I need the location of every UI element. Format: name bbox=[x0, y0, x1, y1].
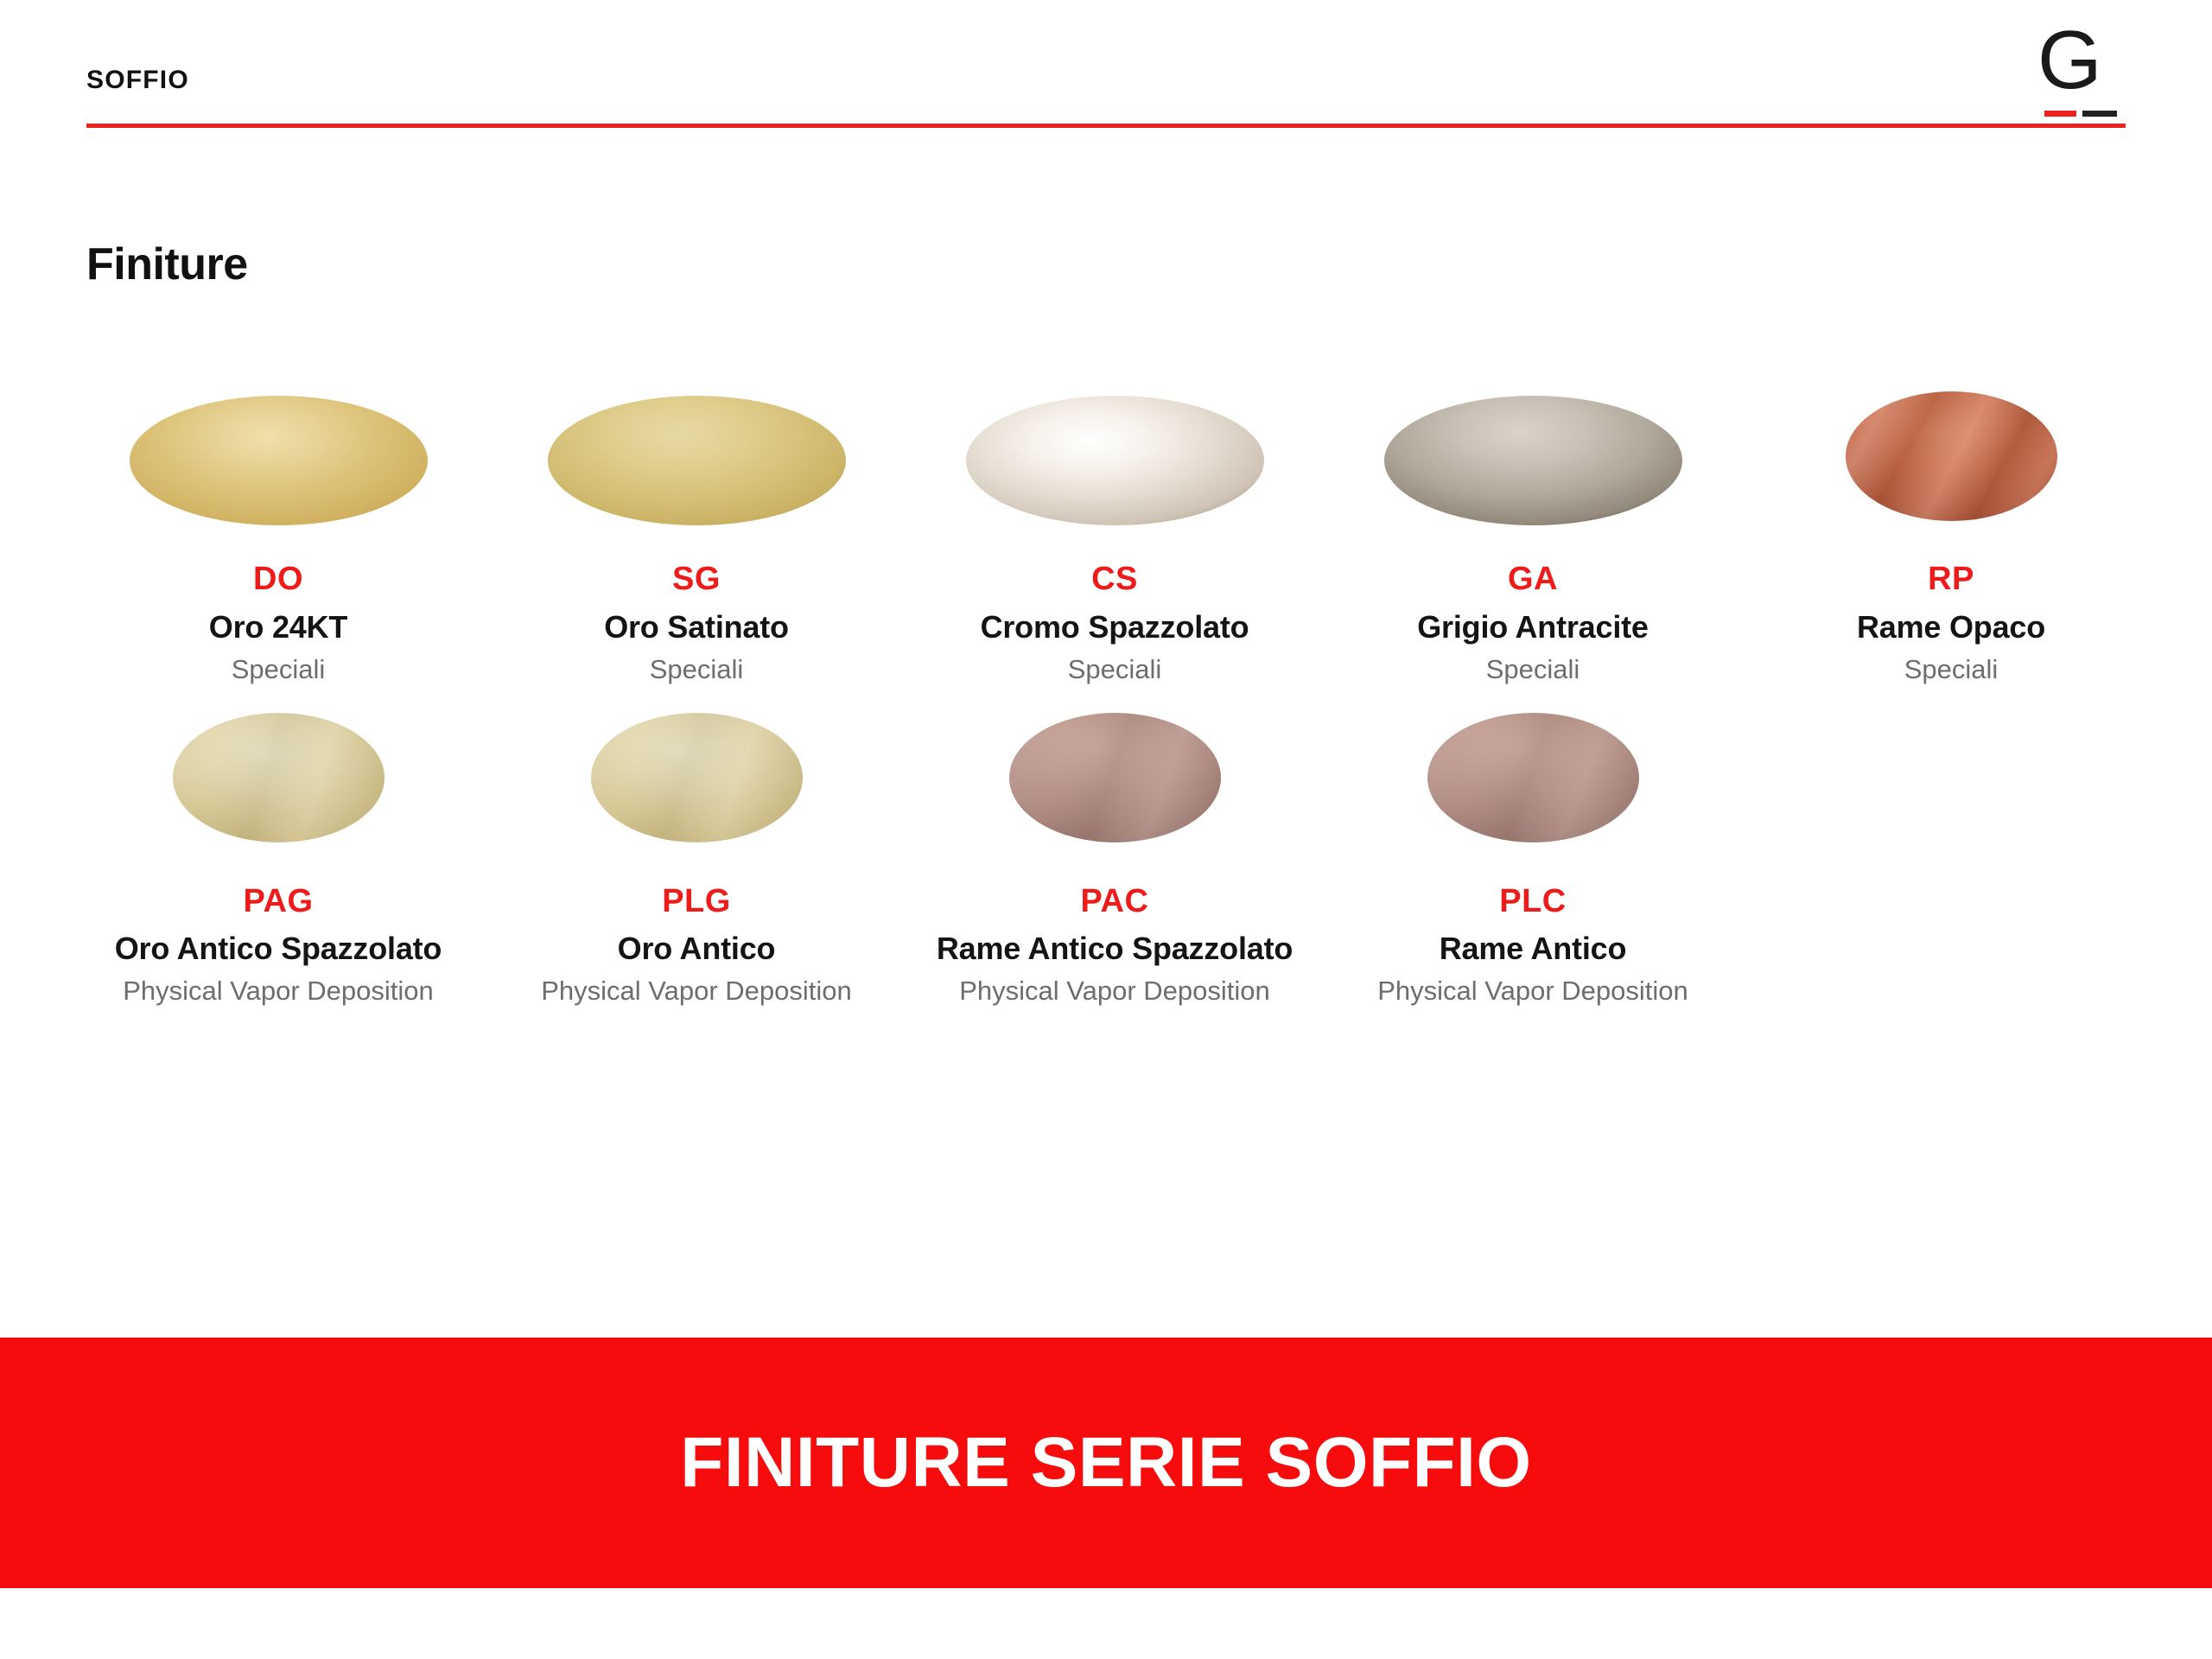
finish-card-pac[interactable]: PAC Rame Antico Spazzolato Physical Vapo… bbox=[906, 702, 1324, 1007]
finish-code: SG bbox=[511, 563, 882, 597]
finish-swatch-plg bbox=[591, 713, 803, 851]
finish-swatch-ga bbox=[1384, 396, 1682, 525]
finish-description: Physical Vapor Deposition bbox=[929, 976, 1300, 1007]
finish-code: DO bbox=[92, 563, 464, 597]
brand-logo: G bbox=[2037, 31, 2133, 118]
finish-labels: PAG Oro Antico Spazzolato Physical Vapor… bbox=[92, 885, 464, 1007]
finish-card-empty bbox=[1742, 702, 2160, 1007]
finish-swatch-cs bbox=[966, 396, 1264, 525]
finish-card-plc[interactable]: PLC Rame Antico Physical Vapor Depositio… bbox=[1324, 702, 1742, 1007]
finish-name: Oro 24KT bbox=[92, 609, 464, 645]
swatch-body bbox=[1846, 391, 2057, 521]
logo-letter-g-icon: G bbox=[2037, 19, 2102, 102]
finish-name: Cromo Spazzolato bbox=[929, 609, 1300, 645]
finish-code: GA bbox=[1347, 563, 1719, 597]
swatch-body bbox=[1384, 396, 1682, 525]
finish-description: Speciali bbox=[1765, 654, 2137, 685]
finish-name: Rame Opaco bbox=[1765, 609, 2137, 645]
finish-name: Oro Antico bbox=[511, 931, 882, 967]
swatch-body bbox=[1427, 713, 1639, 842]
finish-code: PAC bbox=[929, 885, 1300, 919]
logo-underline-gap bbox=[2076, 111, 2082, 117]
swatch-body bbox=[591, 713, 803, 842]
finish-name: Grigio Antracite bbox=[1347, 609, 1719, 645]
swatch-wrapper bbox=[532, 702, 861, 862]
finish-labels: RP Rame Opaco Speciali bbox=[1765, 563, 2137, 685]
footer-title: FINITURE SERIE SOFFIO bbox=[680, 1427, 1531, 1498]
swatch-wrapper bbox=[532, 380, 861, 540]
finish-swatch-pac bbox=[1009, 713, 1221, 851]
finish-name: Oro Satinato bbox=[511, 609, 882, 645]
swatch-wrapper bbox=[114, 702, 442, 862]
finishes-row-2: PAG Oro Antico Spazzolato Physical Vapor… bbox=[69, 702, 2160, 1007]
finish-card-ga[interactable]: GA Grigio Antracite Speciali bbox=[1324, 380, 1742, 685]
finish-card-do[interactable]: DO Oro 24KT Speciali bbox=[69, 380, 487, 685]
finish-name: Rame Antico Spazzolato bbox=[929, 931, 1300, 967]
swatch-body bbox=[130, 396, 428, 525]
finish-swatch-plc bbox=[1427, 713, 1639, 851]
finish-name: Rame Antico bbox=[1347, 931, 1719, 967]
swatch-wrapper bbox=[1787, 380, 2115, 540]
swatch-wrapper bbox=[1369, 380, 1697, 540]
header-divider-rule bbox=[86, 124, 2126, 128]
finish-code: PAG bbox=[92, 885, 464, 919]
finish-card-rp[interactable]: RP Rame Opaco Speciali bbox=[1742, 380, 2160, 685]
finish-card-plg[interactable]: PLG Oro Antico Physical Vapor Deposition bbox=[487, 702, 906, 1007]
footer-banner: FINITURE SERIE SOFFIO bbox=[0, 1338, 2212, 1588]
finish-description: Physical Vapor Deposition bbox=[92, 976, 464, 1007]
swatch-wrapper bbox=[1369, 702, 1697, 862]
finish-code: PLC bbox=[1347, 885, 1719, 919]
swatch-body bbox=[173, 713, 385, 842]
finish-swatch-sg bbox=[548, 396, 846, 525]
finish-swatch-pag bbox=[173, 713, 385, 851]
finish-swatch-do bbox=[130, 396, 428, 525]
logo-underline-red-segment bbox=[2044, 111, 2076, 117]
finish-labels: PLC Rame Antico Physical Vapor Depositio… bbox=[1347, 885, 1719, 1007]
finish-labels: GA Grigio Antracite Speciali bbox=[1347, 563, 1719, 685]
finish-labels: PAC Rame Antico Spazzolato Physical Vapo… bbox=[929, 885, 1300, 1007]
finish-labels: CS Cromo Spazzolato Speciali bbox=[929, 563, 1300, 685]
swatch-body bbox=[1009, 713, 1221, 842]
logo-underline-black-segment bbox=[2082, 111, 2117, 117]
finish-description: Physical Vapor Deposition bbox=[511, 976, 882, 1007]
swatch-wrapper bbox=[114, 380, 442, 540]
finish-name: Oro Antico Spazzolato bbox=[92, 931, 464, 967]
finish-code: RP bbox=[1765, 563, 2137, 597]
finish-description: Speciali bbox=[92, 654, 464, 685]
finish-labels: PLG Oro Antico Physical Vapor Deposition bbox=[511, 885, 882, 1007]
finish-card-sg[interactable]: SG Oro Satinato Speciali bbox=[487, 380, 906, 685]
finish-card-cs[interactable]: CS Cromo Spazzolato Speciali bbox=[906, 380, 1324, 685]
swatch-body bbox=[548, 396, 846, 525]
finish-swatch-rp bbox=[1846, 391, 2057, 530]
finish-code: CS bbox=[929, 563, 1300, 597]
finish-card-pag[interactable]: PAG Oro Antico Spazzolato Physical Vapor… bbox=[69, 702, 487, 1007]
finish-description: Physical Vapor Deposition bbox=[1347, 976, 1719, 1007]
page-header: SOFFIO G bbox=[0, 0, 2212, 138]
finish-labels: DO Oro 24KT Speciali bbox=[92, 563, 464, 685]
finishes-grid: DO Oro 24KT Speciali SG Oro Satinato Spe… bbox=[69, 380, 2160, 1007]
swatch-body bbox=[966, 396, 1264, 525]
section-title-finiture: Finiture bbox=[86, 242, 248, 287]
finish-description: Speciali bbox=[1347, 654, 1719, 685]
finish-labels: SG Oro Satinato Speciali bbox=[511, 563, 882, 685]
swatch-wrapper bbox=[950, 702, 1279, 862]
finishes-row-1: DO Oro 24KT Speciali SG Oro Satinato Spe… bbox=[69, 380, 2160, 685]
finish-code: PLG bbox=[511, 885, 882, 919]
logo-underline-icon bbox=[2044, 111, 2117, 117]
finish-description: Speciali bbox=[511, 654, 882, 685]
swatch-wrapper bbox=[950, 380, 1279, 540]
header-series-name: SOFFIO bbox=[86, 67, 189, 93]
finish-description: Speciali bbox=[929, 654, 1300, 685]
